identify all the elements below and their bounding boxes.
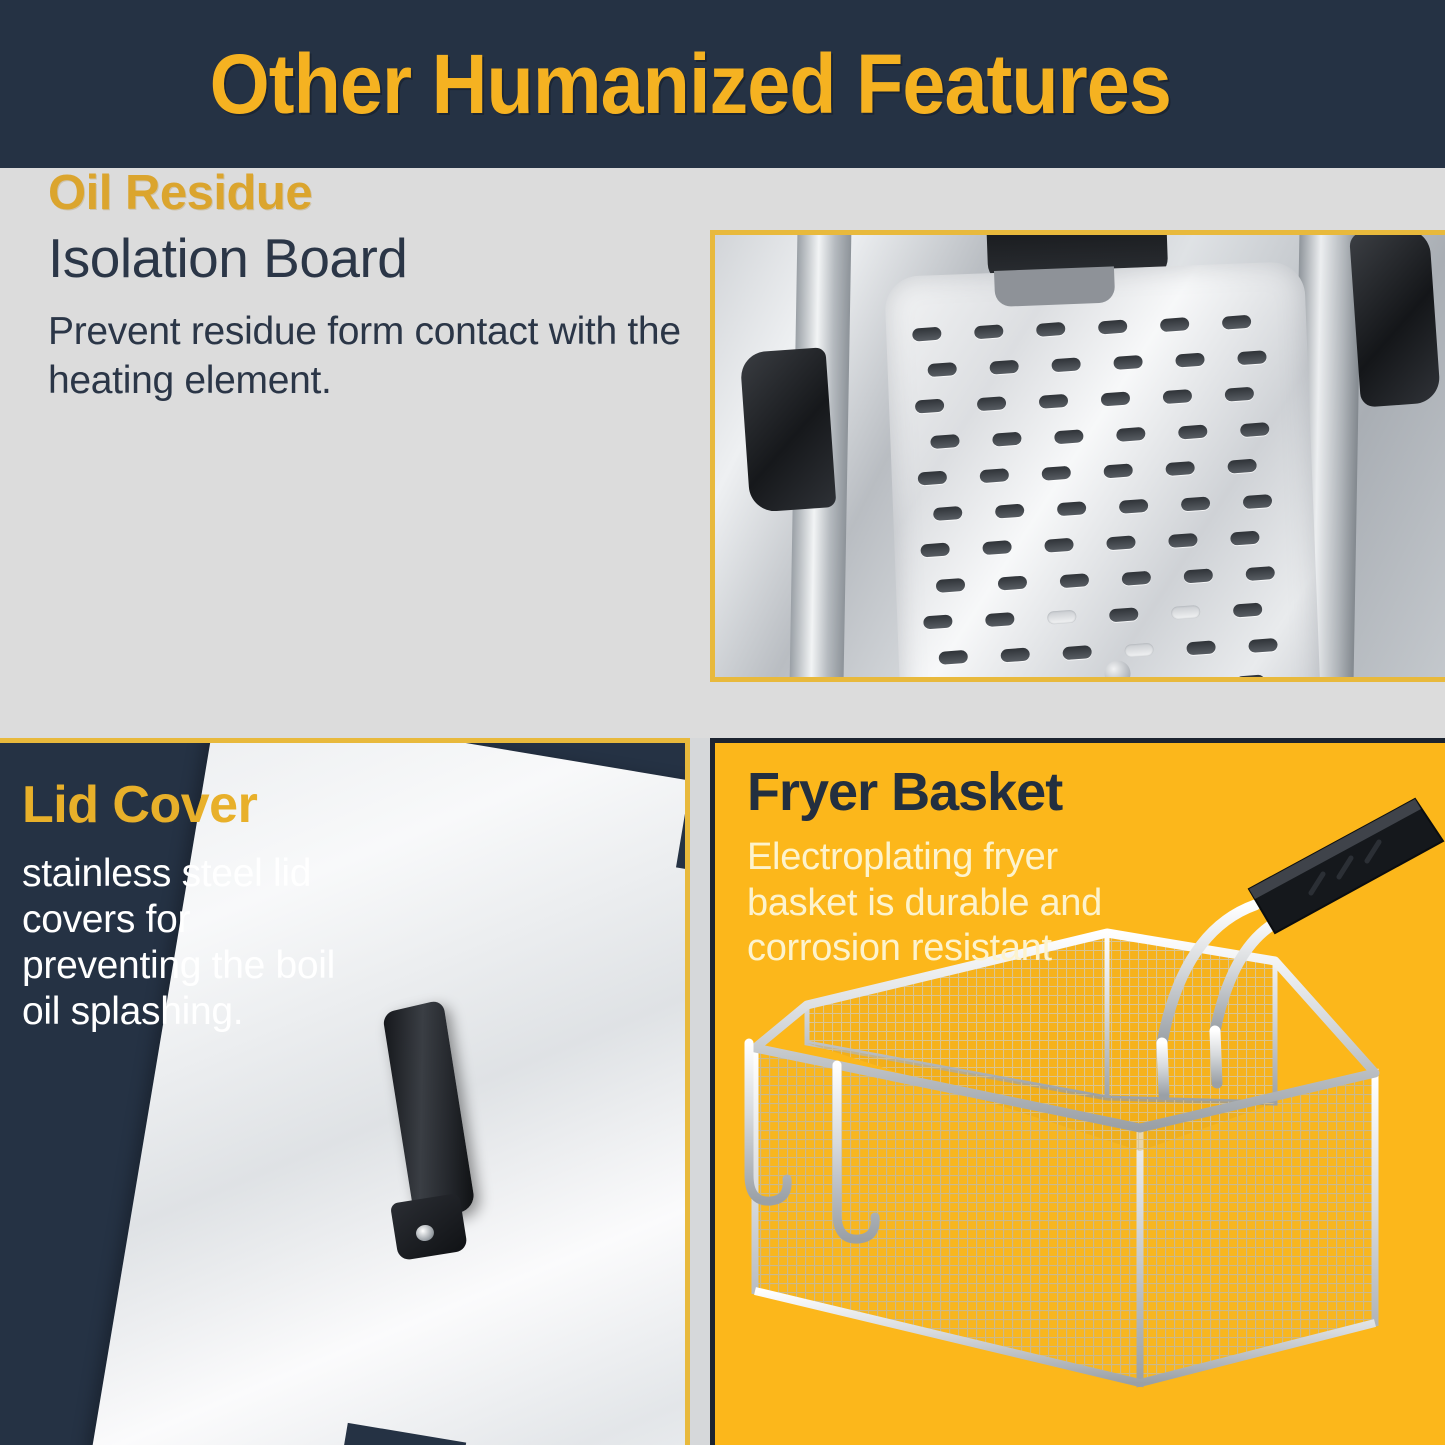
isolation-plate-hole	[995, 504, 1025, 519]
isolation-plate-hole	[1186, 640, 1216, 655]
lid-cover-text-block: Lid Cover stainless steel lid covers for…	[22, 779, 362, 1035]
isolation-plate-hole	[1047, 610, 1077, 625]
perforated-isolation-plate	[884, 261, 1322, 677]
isolation-plate-hole	[1044, 538, 1074, 553]
isolation-plate-hole	[1240, 422, 1270, 437]
page-header: Other Humanized Features	[0, 0, 1445, 168]
isolation-plate-hole	[1181, 496, 1211, 511]
lid-cover-notch-top-right	[676, 777, 690, 887]
isolation-plate-hole	[1119, 499, 1149, 514]
isolation-plate-hole	[992, 432, 1022, 447]
isolation-plate-hole	[1109, 607, 1139, 622]
isolation-plate-hole	[1103, 463, 1133, 478]
isolation-plate-hole	[1227, 459, 1257, 474]
isolation-plate-hole	[912, 327, 942, 342]
isolation-plate-hole	[1175, 353, 1205, 368]
isolation-plate-hole	[974, 324, 1004, 339]
isolation-plate-hole	[1168, 533, 1198, 548]
isolation-plate-hole	[936, 578, 966, 593]
fryer-basket-description: Electroplating fryer basket is durable a…	[747, 835, 1167, 972]
isolation-plate-hole	[1224, 387, 1254, 402]
isolation-plate-hole	[1101, 391, 1131, 406]
oil-residue-text-block: Oil Residue Isolation Board Prevent resi…	[48, 168, 688, 406]
isolation-plate-hole	[1124, 643, 1154, 658]
isolation-plate-hole	[1116, 427, 1146, 442]
isolation-plate-hole-grid	[912, 314, 1299, 677]
isolation-plate-hole	[923, 614, 953, 629]
page-title: Other Humanized Features	[210, 36, 1236, 133]
isolation-plate-hole	[917, 470, 947, 485]
isolation-plate-hole	[979, 468, 1009, 483]
isolation-plate-hole	[1245, 566, 1275, 581]
isolation-board-photo	[710, 230, 1445, 682]
isolation-plate-hole	[1059, 573, 1089, 588]
isolation-plate-hole	[1054, 429, 1084, 444]
fryer-basket-panel: Fryer Basket Electroplating fryer basket…	[710, 738, 1445, 1445]
isolation-plate-hole	[985, 612, 1015, 627]
section-divider-horizontal	[0, 682, 710, 738]
lid-cover-notch-bottom	[333, 1423, 466, 1445]
isolation-board-photo-inner	[715, 235, 1445, 677]
isolation-plate-hole	[1121, 571, 1151, 586]
isolation-plate-hole	[1165, 461, 1195, 476]
fryer-basket-kicker: Fryer Basket	[747, 765, 1167, 819]
isolation-plate-hole	[938, 650, 968, 665]
isolation-plate-hole	[998, 575, 1028, 590]
oil-residue-kicker: Oil Residue	[48, 168, 688, 219]
isolation-plate-hole	[927, 362, 957, 377]
isolation-plate-hole	[1230, 531, 1260, 546]
isolation-plate-hole	[933, 506, 963, 521]
isolation-plate-hole	[1233, 602, 1263, 617]
isolation-plate-hole	[1106, 535, 1136, 550]
basket-handle-grip	[1249, 799, 1443, 933]
isolation-plate-hole	[1162, 389, 1192, 404]
isolation-plate-hole	[930, 434, 960, 449]
isolation-plate-hole	[1178, 424, 1208, 439]
isolation-plate-hole	[1051, 357, 1081, 372]
isolation-plate-hole	[920, 542, 950, 557]
fryer-basket-text-block: Fryer Basket Electroplating fryer basket…	[747, 765, 1167, 972]
lid-cover-panel: Lid Cover stainless steel lid covers for…	[0, 738, 690, 1445]
isolation-plate-hole	[1243, 494, 1273, 509]
isolation-plate-hole	[1113, 355, 1143, 370]
fryer-tank-handle-left	[740, 347, 837, 513]
fryer-tank-handle-right	[1349, 235, 1441, 408]
isolation-plate-hole	[989, 360, 1019, 375]
isolation-plate-hole	[1160, 317, 1190, 332]
isolation-plate-hole	[1041, 466, 1071, 481]
isolation-plate-hole	[982, 540, 1012, 555]
isolation-plate-hole	[1057, 501, 1087, 516]
isolation-plate-hole	[1171, 605, 1201, 620]
isolation-plate-hole	[1039, 394, 1069, 409]
isolation-plate-hole	[1237, 350, 1267, 365]
isolation-plate-hole	[1000, 647, 1030, 662]
isolation-plate-hole	[1036, 322, 1066, 337]
isolation-plate-hole	[1098, 319, 1128, 334]
isolation-plate-hole	[1236, 674, 1266, 677]
isolation-plate-hole	[915, 399, 945, 414]
isolation-plate-notch	[994, 266, 1115, 307]
panel-divider-vertical	[690, 738, 710, 1445]
lid-cover-description: stainless steel lid covers for preventin…	[22, 851, 362, 1035]
isolation-plate-hole	[1248, 638, 1278, 653]
oil-residue-description: Prevent residue form contact with the he…	[48, 307, 688, 407]
isolation-plate-hole	[1222, 315, 1252, 330]
isolation-plate-hole	[1183, 568, 1213, 583]
isolation-plate-hole	[1062, 645, 1092, 660]
isolation-plate-hole	[977, 396, 1007, 411]
lid-cover-kicker: Lid Cover	[22, 779, 362, 831]
oil-residue-title: Isolation Board	[48, 225, 688, 292]
